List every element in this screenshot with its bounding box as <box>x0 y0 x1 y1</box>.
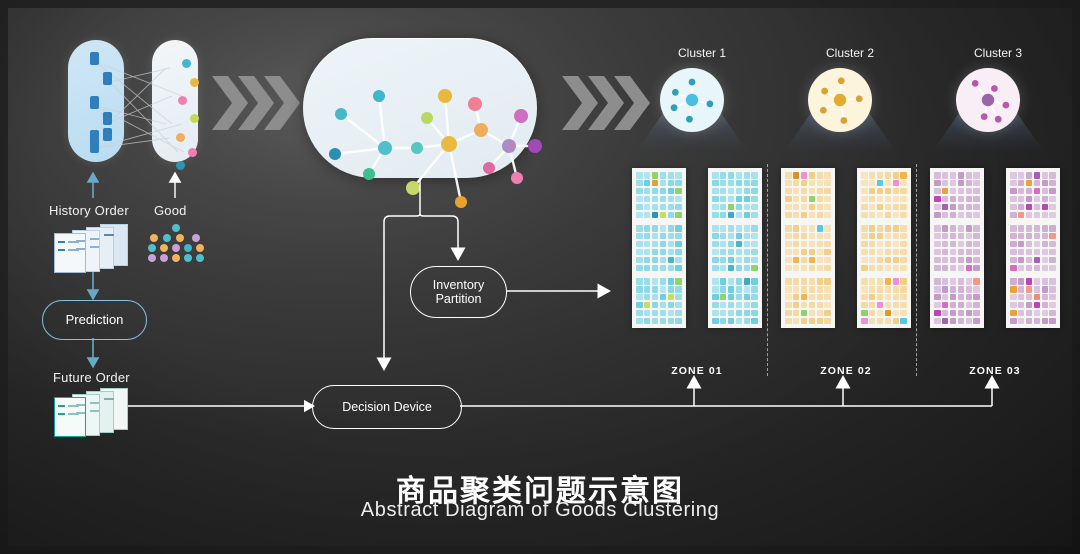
zone-cell <box>817 257 824 264</box>
zone-cell <box>636 278 643 285</box>
zone-cell <box>1049 294 1056 301</box>
zone-cell <box>885 180 892 187</box>
zone-grid-block <box>1010 172 1056 218</box>
zone-cell <box>942 318 949 325</box>
zone-cell <box>1010 286 1017 293</box>
zone-cell <box>644 212 651 219</box>
zone-separator-2 <box>916 164 917 376</box>
zone-cell <box>1042 225 1049 232</box>
zone-cell <box>793 241 800 248</box>
zone-cell <box>1018 249 1025 256</box>
zone-cell <box>1018 180 1025 187</box>
zone-cell <box>793 249 800 256</box>
zone-cell <box>1034 318 1041 325</box>
zone-1-grid-1[interactable] <box>632 168 686 328</box>
zone-cell <box>751 257 758 264</box>
zone-cell <box>950 204 957 211</box>
zone-label-2: ZONE 02 <box>775 365 917 377</box>
zone-1-grid-2[interactable] <box>708 168 762 328</box>
zone-cell <box>1042 318 1049 325</box>
zone-cell <box>809 212 816 219</box>
zone-cell <box>744 249 751 256</box>
zone-cell <box>801 212 808 219</box>
zone-cell <box>966 294 973 301</box>
zone-cell <box>1042 180 1049 187</box>
zone-cell <box>644 172 651 179</box>
zone-cell <box>728 294 735 301</box>
zone-cell <box>1010 180 1017 187</box>
zone-cell <box>809 225 816 232</box>
zone-label-1: ZONE 01 <box>626 365 768 377</box>
zone-cell <box>861 225 868 232</box>
zone-cell <box>950 225 957 232</box>
zone-cell <box>675 196 682 203</box>
zone-cell <box>1018 318 1025 325</box>
zone-cell <box>1010 225 1017 232</box>
zone-cell <box>751 318 758 325</box>
zone-2-grid-1[interactable] <box>781 168 835 328</box>
zone-cell <box>1010 318 1017 325</box>
zone-cell <box>1049 225 1056 232</box>
zone-cell <box>942 257 949 264</box>
zone-cell <box>934 225 941 232</box>
zone-cell <box>950 196 957 203</box>
zone-cell <box>660 188 667 195</box>
zone-cell <box>893 196 900 203</box>
zone-cell <box>668 318 675 325</box>
zone-cell <box>636 302 643 309</box>
zone-cell <box>809 310 816 317</box>
zone-cell <box>1049 278 1056 285</box>
zone-cell <box>793 310 800 317</box>
zone-cell <box>736 204 743 211</box>
zone-cell <box>1018 225 1025 232</box>
zone-cell <box>861 318 868 325</box>
zone-cell <box>751 294 758 301</box>
zone-cell <box>869 204 876 211</box>
zone-cell <box>668 265 675 272</box>
zone-cell <box>942 302 949 309</box>
zone-cell <box>973 286 980 293</box>
zone-cell <box>958 233 965 240</box>
zone-cell <box>817 241 824 248</box>
zone-cell <box>785 188 792 195</box>
zone-cell <box>675 278 682 285</box>
zone-cell <box>934 188 941 195</box>
chevron-group-2 <box>560 72 652 134</box>
zone-cell <box>950 241 957 248</box>
zone-cell <box>900 212 907 219</box>
zone-cell <box>861 188 868 195</box>
inventory-partition-line1: Inventory <box>433 278 484 292</box>
zone-cell <box>900 278 907 285</box>
zone-cell <box>869 212 876 219</box>
zone-cell <box>877 294 884 301</box>
zone-cell <box>869 172 876 179</box>
zone-cell <box>958 225 965 232</box>
zone-separator-1 <box>767 164 768 376</box>
zone-cell <box>861 233 868 240</box>
zone-cell <box>1049 286 1056 293</box>
zone-cell <box>668 188 675 195</box>
zone-cell <box>900 196 907 203</box>
zone-cell <box>644 310 651 317</box>
zone-cell <box>809 278 816 285</box>
zone-cell <box>809 180 816 187</box>
zone-cell <box>1042 257 1049 264</box>
zone-cell <box>893 294 900 301</box>
zone-cell <box>893 310 900 317</box>
zone-cell <box>652 286 659 293</box>
zone-cell <box>675 318 682 325</box>
zone-cell <box>877 204 884 211</box>
zone-cell <box>950 294 957 301</box>
zone-cell <box>675 265 682 272</box>
cluster-circle-2[interactable] <box>808 68 872 132</box>
zone-cell <box>950 172 957 179</box>
zone-cell <box>966 310 973 317</box>
zone-cell <box>785 241 792 248</box>
zone-cell <box>652 257 659 264</box>
zone-cell <box>861 257 868 264</box>
zone-cell <box>824 249 831 256</box>
zone-label-3: ZONE 03 <box>924 365 1066 377</box>
zone-cell <box>817 265 824 272</box>
zone-cell <box>1042 188 1049 195</box>
zone-cell <box>793 188 800 195</box>
zone-cell <box>668 180 675 187</box>
zone-cell <box>736 286 743 293</box>
zone-cell <box>885 225 892 232</box>
zone-grid-block <box>934 225 980 271</box>
zone-cell <box>877 188 884 195</box>
zone-2-grid-2[interactable] <box>857 168 911 328</box>
zone-3-grid-1[interactable] <box>930 168 984 328</box>
zone-cell <box>1026 180 1033 187</box>
zone-cell <box>885 241 892 248</box>
zone-cell <box>861 196 868 203</box>
zone-cell <box>900 188 907 195</box>
zone-cell <box>809 172 816 179</box>
zone-cell <box>817 196 824 203</box>
zone-cell <box>950 310 957 317</box>
zone-cell <box>712 225 719 232</box>
zone-cell <box>809 294 816 301</box>
zone-cell <box>1049 249 1056 256</box>
zone-cell <box>636 286 643 293</box>
zone-cell <box>1042 294 1049 301</box>
zone-cell <box>934 318 941 325</box>
zone-cell <box>720 278 727 285</box>
zone-cell <box>744 196 751 203</box>
zone-cell <box>736 257 743 264</box>
zone-cell <box>900 257 907 264</box>
zone-cell <box>660 265 667 272</box>
zone-cell <box>809 318 816 325</box>
zone-cell <box>793 302 800 309</box>
zone-cell <box>893 241 900 248</box>
zone-grid-block <box>712 278 758 324</box>
zone-cell <box>809 265 816 272</box>
zone-cell <box>817 188 824 195</box>
zone-cell <box>885 318 892 325</box>
zone-cell <box>636 172 643 179</box>
zone-cell <box>728 172 735 179</box>
label-history-order: History Order <box>49 203 129 218</box>
zone-cell <box>1010 241 1017 248</box>
zone-cell <box>1010 233 1017 240</box>
label-future-order: Future Order <box>53 370 130 385</box>
zone-cell <box>751 188 758 195</box>
zone-cell <box>644 278 651 285</box>
zone-cell <box>652 233 659 240</box>
zone-3-grid-2[interactable] <box>1006 168 1060 328</box>
zone-cell <box>824 265 831 272</box>
zone-cell <box>751 225 758 232</box>
zone-cell <box>644 225 651 232</box>
zone-grid-block <box>636 278 682 324</box>
zone-cell <box>817 286 824 293</box>
zone-cell <box>1018 241 1025 248</box>
decision-device-label: Decision Device <box>342 400 432 414</box>
zone-cell <box>1042 310 1049 317</box>
zone-cell <box>973 257 980 264</box>
zone-cell <box>744 257 751 264</box>
zone-cell <box>644 196 651 203</box>
zone-cell <box>973 196 980 203</box>
zone-cell <box>660 302 667 309</box>
zone-cell <box>861 286 868 293</box>
zone-cell <box>824 278 831 285</box>
zone-cell <box>751 172 758 179</box>
zone-cell <box>900 172 907 179</box>
zone-cell <box>942 188 949 195</box>
zone-cell <box>801 302 808 309</box>
cluster-label-2: Cluster 2 <box>818 46 882 60</box>
zone-cell <box>744 180 751 187</box>
zone-cell <box>660 196 667 203</box>
zone-cell <box>1034 204 1041 211</box>
zone-cell <box>652 294 659 301</box>
zone-cell <box>644 249 651 256</box>
zone-cell <box>934 233 941 240</box>
zone-cell <box>675 233 682 240</box>
zone-cell <box>785 180 792 187</box>
zone-cell <box>869 196 876 203</box>
zone-cell <box>1026 294 1033 301</box>
zone-cell <box>751 204 758 211</box>
zone-cell <box>728 286 735 293</box>
zone-cell <box>893 265 900 272</box>
zone-cell <box>942 180 949 187</box>
zone-cell <box>1034 249 1041 256</box>
zone-cell <box>728 180 735 187</box>
zone-cell <box>751 302 758 309</box>
zone-cell <box>636 180 643 187</box>
zone-cell <box>720 302 727 309</box>
zone-cell <box>934 286 941 293</box>
inventory-partition-pill[interactable]: Inventory Partition <box>410 266 507 318</box>
zone-cell <box>950 286 957 293</box>
zone-cell <box>675 249 682 256</box>
zone-cell <box>893 225 900 232</box>
zone-cell <box>652 241 659 248</box>
zone-grid-block <box>1010 225 1056 271</box>
zone-cell <box>893 278 900 285</box>
cluster-circle-1[interactable] <box>660 68 724 132</box>
zone-cell <box>736 196 743 203</box>
zone-cell <box>675 241 682 248</box>
zone-cell <box>869 233 876 240</box>
zone-cell <box>893 318 900 325</box>
zone-cell <box>1026 265 1033 272</box>
zone-cell <box>1049 188 1056 195</box>
zone-cell <box>877 278 884 285</box>
zone-cell <box>1010 310 1017 317</box>
zone-cell <box>817 302 824 309</box>
zone-cell <box>744 265 751 272</box>
zone-cell <box>668 212 675 219</box>
zone-cell <box>900 302 907 309</box>
title-english: Abstract Diagram of Goods Clustering <box>0 499 1080 522</box>
zone-cell <box>869 241 876 248</box>
prediction-pill[interactable]: Prediction <box>42 300 147 340</box>
decision-device-pill[interactable]: Decision Device <box>312 385 462 429</box>
zone-grid-block <box>785 172 831 218</box>
zone-cell <box>893 302 900 309</box>
zone-cell <box>744 278 751 285</box>
zone-cell <box>885 172 892 179</box>
zone-cell <box>809 257 816 264</box>
zone-cell <box>958 294 965 301</box>
zone-cell <box>900 225 907 232</box>
zone-cell <box>1034 241 1041 248</box>
zone-cell <box>736 241 743 248</box>
zone-cell <box>817 180 824 187</box>
zone-cell <box>793 233 800 240</box>
zone-cell <box>801 188 808 195</box>
zone-cell <box>966 241 973 248</box>
zone-cell <box>675 257 682 264</box>
zone-cell <box>751 265 758 272</box>
zone-cell <box>1026 286 1033 293</box>
zone-cell <box>1026 204 1033 211</box>
zone-cell <box>877 302 884 309</box>
zone-cell <box>660 310 667 317</box>
zone-cell <box>966 278 973 285</box>
cluster-circle-3[interactable] <box>956 68 1020 132</box>
zone-cell <box>817 204 824 211</box>
zone-cell <box>736 172 743 179</box>
zone-cell <box>668 225 675 232</box>
zone-cell <box>712 204 719 211</box>
zone-cell <box>1042 286 1049 293</box>
zone-cell <box>973 204 980 211</box>
zone-cell <box>942 212 949 219</box>
zone-grid-block <box>636 172 682 218</box>
zone-cell <box>644 286 651 293</box>
zone-cell <box>893 188 900 195</box>
zone-cell <box>785 310 792 317</box>
zone-cell <box>660 278 667 285</box>
zone-cell <box>942 249 949 256</box>
zone-cell <box>893 204 900 211</box>
zone-cell <box>817 172 824 179</box>
zone-cell <box>736 302 743 309</box>
zone-cell <box>950 257 957 264</box>
zone-cell <box>1034 233 1041 240</box>
zone-cell <box>861 294 868 301</box>
zone-cell <box>744 225 751 232</box>
zone-cell <box>861 204 868 211</box>
zone-cell <box>644 188 651 195</box>
zone-cell <box>1042 212 1049 219</box>
zone-cell <box>893 212 900 219</box>
zone-cell <box>942 225 949 232</box>
zone-cell <box>885 204 892 211</box>
zone-cell <box>728 278 735 285</box>
zone-cell <box>942 196 949 203</box>
zone-cell <box>793 196 800 203</box>
zone-cell <box>934 212 941 219</box>
zone-cell <box>877 172 884 179</box>
zone-cell <box>966 196 973 203</box>
zone-cell <box>652 188 659 195</box>
zone-cell <box>966 318 973 325</box>
zone-cell <box>885 310 892 317</box>
zone-cell <box>958 212 965 219</box>
zone-cell <box>973 212 980 219</box>
zone-cell <box>885 286 892 293</box>
zone-cell <box>877 233 884 240</box>
zone-cell <box>885 196 892 203</box>
zone-cell <box>824 241 831 248</box>
zone-cell <box>817 212 824 219</box>
zone-cell <box>950 180 957 187</box>
zone-cell <box>1049 204 1056 211</box>
zone-cell <box>720 196 727 203</box>
zone-cell <box>1010 257 1017 264</box>
zone-cell <box>712 188 719 195</box>
zone-cell <box>1010 204 1017 211</box>
zone-cell <box>958 310 965 317</box>
zone-cell <box>1042 241 1049 248</box>
zone-cell <box>751 196 758 203</box>
zone-cell <box>712 196 719 203</box>
zone-cell <box>869 225 876 232</box>
zone-cell <box>885 212 892 219</box>
zone-cell <box>934 196 941 203</box>
zone-cell <box>869 278 876 285</box>
zone-cell <box>1049 172 1056 179</box>
zone-cell <box>793 225 800 232</box>
zone-cell <box>636 204 643 211</box>
zone-cell <box>712 302 719 309</box>
zone-cell <box>877 180 884 187</box>
zone-cell <box>824 196 831 203</box>
zone-cell <box>942 233 949 240</box>
zone-cell <box>869 302 876 309</box>
zone-cell <box>877 196 884 203</box>
zone-cell <box>809 286 816 293</box>
zone-cell <box>1026 241 1033 248</box>
zone-cell <box>824 225 831 232</box>
zone-cell <box>1018 188 1025 195</box>
diagram-canvas: History Order Good Future Order <box>0 0 1080 554</box>
zone-cell <box>934 257 941 264</box>
zone-cell <box>1026 278 1033 285</box>
zone-cell <box>973 302 980 309</box>
